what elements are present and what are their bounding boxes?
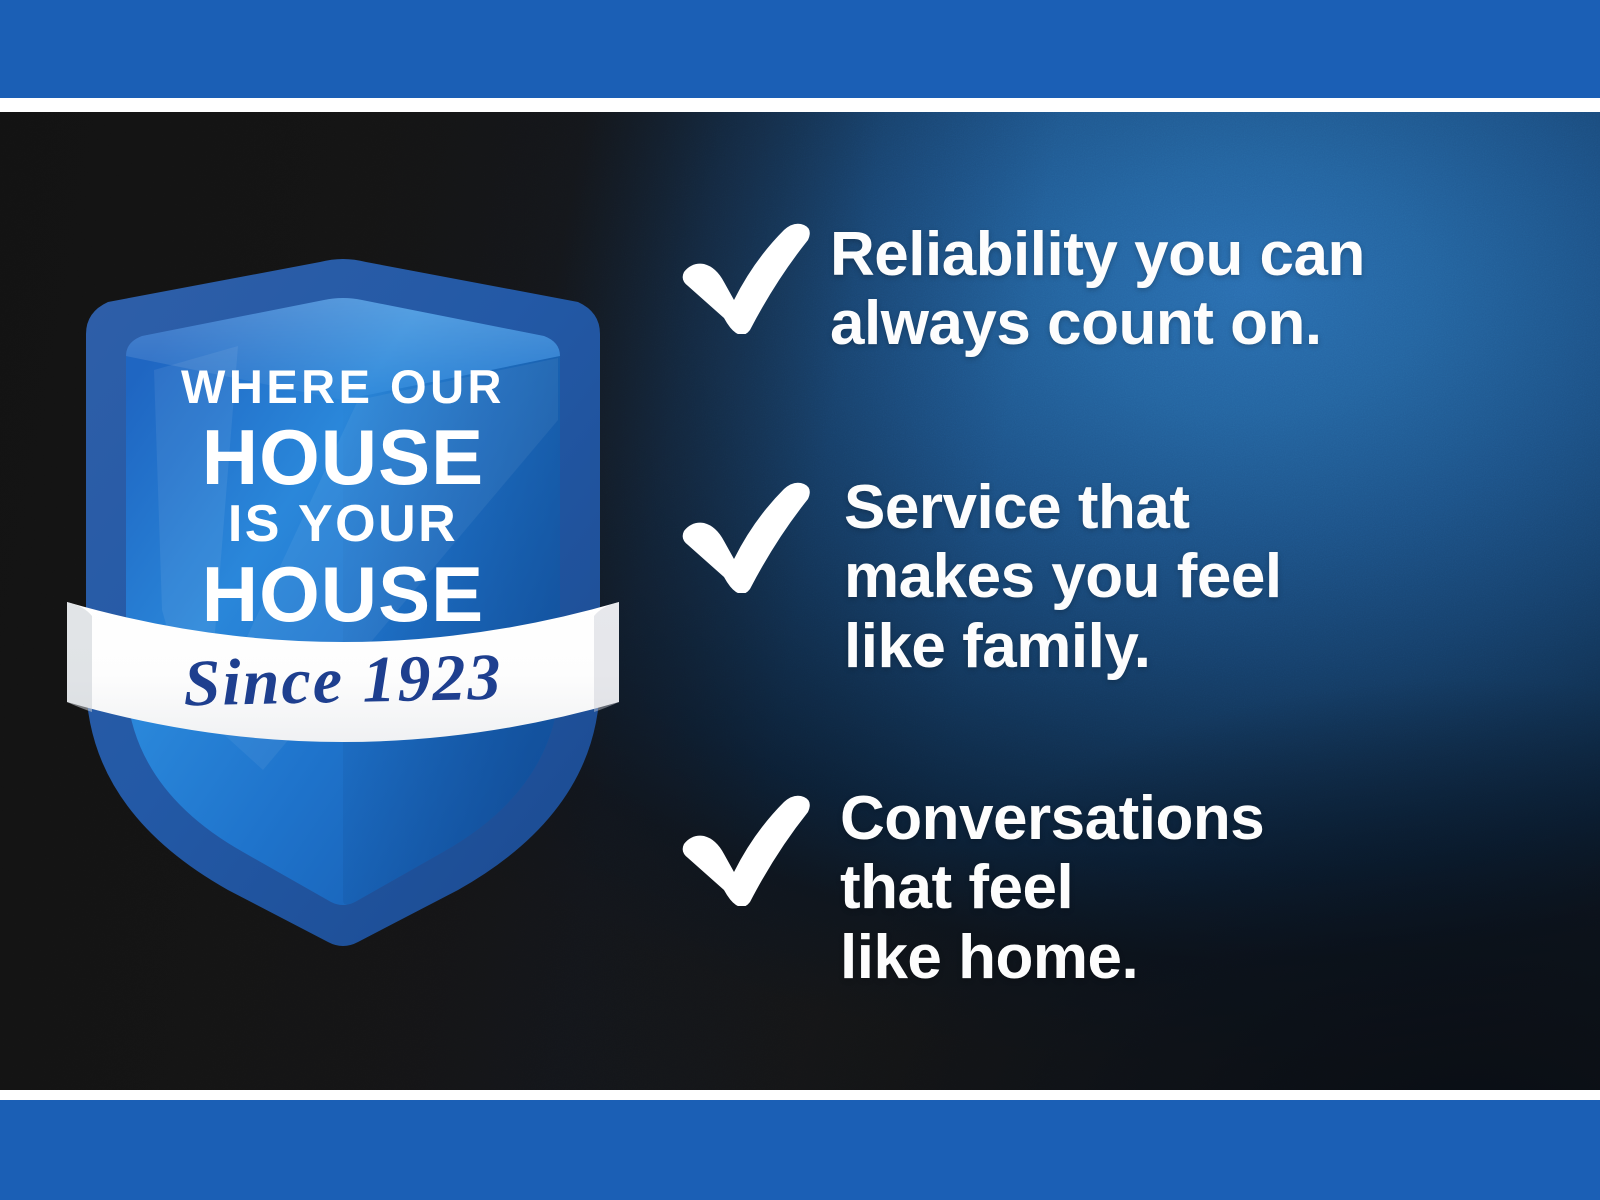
list-item: Reliability you can always count on.: [672, 208, 1365, 359]
list-item-line: like home.: [840, 923, 1264, 992]
list-item-line: that feel: [840, 853, 1264, 922]
banner-fold-left: [67, 602, 92, 712]
top-brand-bar: [0, 0, 1600, 98]
checkmark-icon: [672, 473, 822, 593]
list-item-text: Service that makes you feel like family.: [844, 473, 1282, 681]
list-item: Conversations that feel like home.: [672, 780, 1264, 992]
value-proposition-list: Reliability you can always count on. Ser…: [672, 112, 1572, 1090]
checkmark-icon: [672, 786, 822, 906]
list-item-line: Conversations: [840, 784, 1264, 853]
list-item-line: makes you feel: [844, 542, 1282, 611]
list-item: Service that makes you feel like family.: [672, 467, 1282, 681]
banner-fold-right: [594, 602, 619, 712]
company-shield-badge: WHERE OUR HOUSE IS YOUR HOUSE Since 1923: [58, 250, 628, 950]
list-item-text: Reliability you can always count on.: [830, 220, 1365, 359]
checkmark-icon: [672, 214, 822, 334]
list-item-line: Reliability you can: [830, 220, 1365, 289]
list-item-line: Service that: [844, 473, 1282, 542]
bottom-brand-bar: [0, 1100, 1600, 1200]
list-item-line: like family.: [844, 612, 1282, 681]
list-item-line: always count on.: [830, 289, 1365, 358]
list-item-text: Conversations that feel like home.: [840, 784, 1264, 992]
promo-graphic: WHERE OUR HOUSE IS YOUR HOUSE Since 1923…: [0, 0, 1600, 1200]
